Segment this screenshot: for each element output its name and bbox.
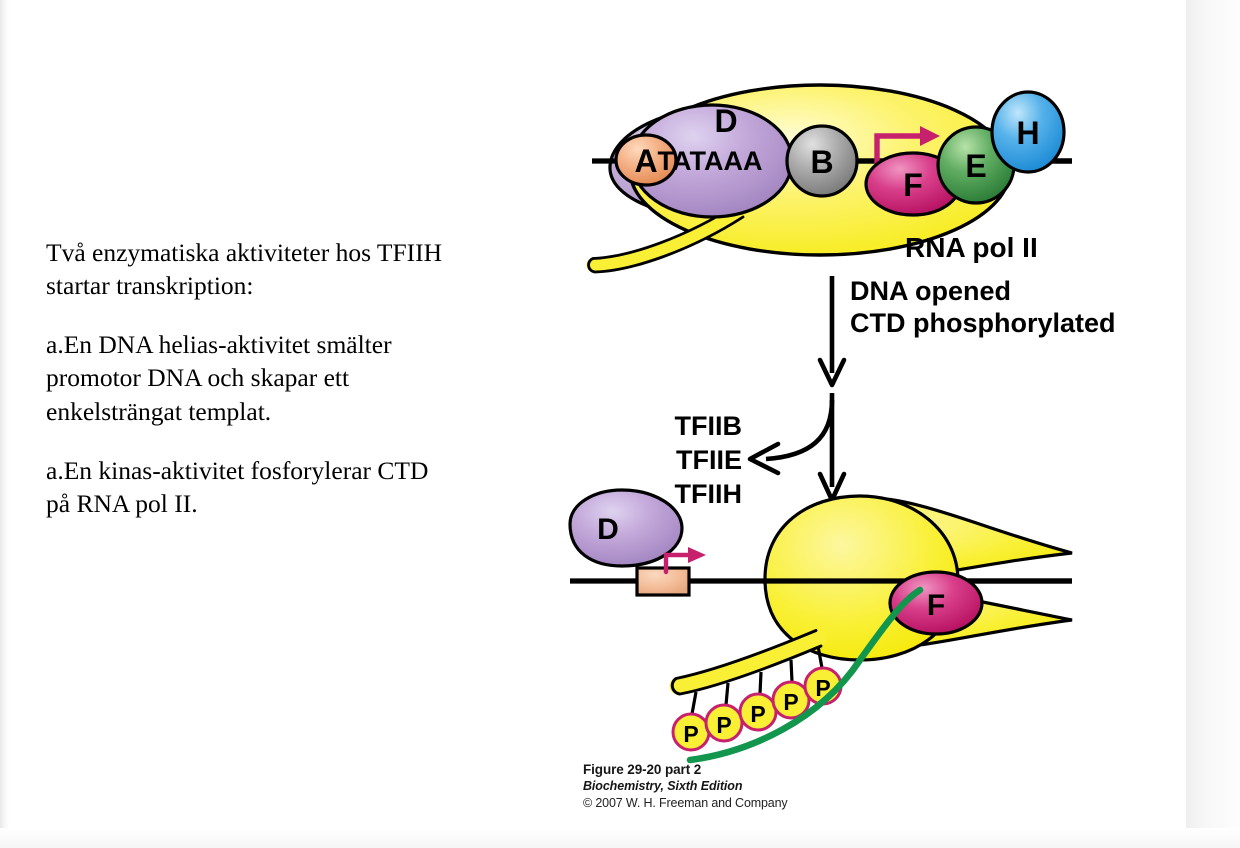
phosphate-label: P xyxy=(750,701,765,727)
body-line-4: promotor DNA och skapar ett xyxy=(46,361,516,394)
body-line-7: på RNA pol II. xyxy=(46,487,516,520)
body-line-5: enkelsträngat templat. xyxy=(46,395,516,428)
phosphate-stem-1 xyxy=(692,692,696,714)
phosphate-stem-2 xyxy=(726,683,728,705)
slide-canvas: Två enzymatiska aktiviteter hos TFIIH st… xyxy=(0,0,1240,848)
released-factor-tfiie: TFIIE xyxy=(676,445,742,475)
factor-letter-e: E xyxy=(965,148,986,184)
bottom-panel-group: D F xyxy=(570,490,1072,760)
phosphate-label: P xyxy=(716,712,731,738)
figure-illustration: TATAAA A D xyxy=(560,60,1180,820)
body-line-3: a.En DNA helias-aktivitet smälter xyxy=(46,328,516,361)
top-panel-group: TATAAA A D xyxy=(589,85,1072,272)
released-factor-tfiih: TFIIH xyxy=(675,479,743,509)
figure-caption: Figure 29-20 part 2 Biochemistry, Sixth … xyxy=(583,762,913,812)
factor-letter-f: F xyxy=(903,167,923,203)
factor-letter-d: D xyxy=(714,103,737,139)
slide-right-edge xyxy=(1186,0,1240,848)
tata-box-label: TATAAA xyxy=(658,146,763,176)
phosphate-stem-4 xyxy=(791,660,792,682)
body-line-2: startar transkription: xyxy=(46,269,516,302)
slide-left-edge xyxy=(0,0,9,848)
factor-letter-a: A xyxy=(634,143,657,179)
paragraph-gap-1 xyxy=(46,302,516,328)
bottom-factor-letter-d: D xyxy=(597,513,619,546)
body-text-block: Två enzymatiska aktiviteter hos TFIIH st… xyxy=(46,236,516,520)
phosphate-stem-3 xyxy=(760,672,761,694)
slide-bottom-edge xyxy=(0,828,1240,848)
transition-group: DNA opened CTD phosphorylated TFIIB TFII… xyxy=(675,276,1116,509)
released-factor-tfiib: TFIIB xyxy=(675,411,743,441)
body-line-1: Två enzymatiska aktiviteter hos TFIIH xyxy=(46,236,516,269)
ctd-tail-bottom-shape xyxy=(678,638,818,686)
phosphate-label: P xyxy=(683,721,698,747)
factor-letter-h: H xyxy=(1016,115,1039,151)
factor-letter-b: B xyxy=(810,144,833,180)
transition-label-line-2: CTD phosphorylated xyxy=(850,308,1116,338)
caption-book-title: Biochemistry, Sixth Edition xyxy=(583,778,913,794)
promoter-box-shape xyxy=(637,568,689,595)
caption-figure-number: Figure 29-20 part 2 xyxy=(583,762,913,778)
body-line-6: a.En kinas-aktivitet fosforylerar CTD xyxy=(46,454,516,487)
paragraph-gap-2 xyxy=(46,428,516,454)
transition-label-line-1: DNA opened xyxy=(850,276,1011,306)
rna-pol-ii-label: RNA pol II xyxy=(905,232,1038,263)
caption-copyright: © 2007 W. H. Freeman and Company xyxy=(583,795,913,812)
bottom-factor-letter-f: F xyxy=(927,589,945,622)
factor-release-arrow-curve xyxy=(766,400,832,459)
phosphate-label: P xyxy=(783,689,798,715)
